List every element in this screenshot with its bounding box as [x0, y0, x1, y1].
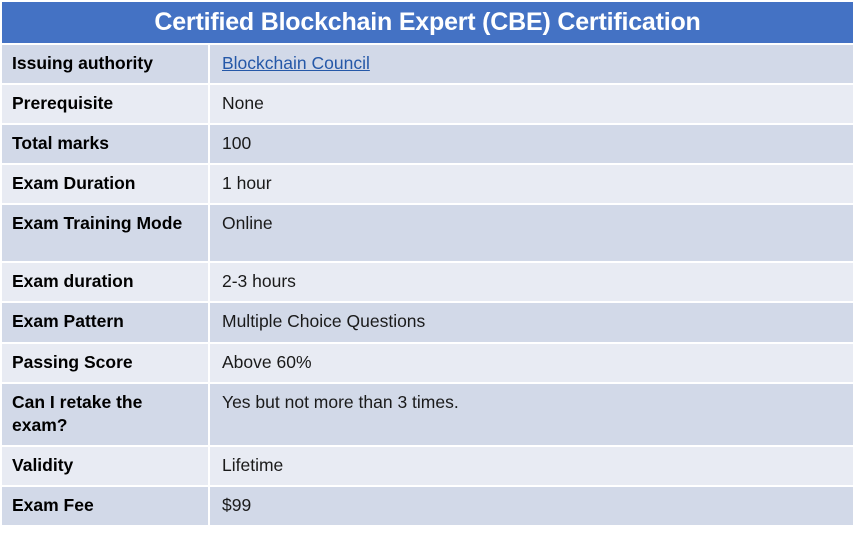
row-value: Multiple Choice Questions	[210, 303, 853, 341]
table-body: Issuing authorityBlockchain CouncilPrere…	[2, 43, 853, 525]
row-label: Exam Training Mode	[2, 205, 210, 261]
row-value: Lifetime	[210, 447, 853, 485]
table-row: Exam Duration1 hour	[2, 163, 853, 203]
row-value: None	[210, 85, 853, 123]
row-label: Issuing authority	[2, 45, 210, 83]
table-row: Issuing authorityBlockchain Council	[2, 43, 853, 83]
certification-table: Certified Blockchain Expert (CBE) Certif…	[2, 2, 853, 527]
row-label: Validity	[2, 447, 210, 485]
table-row: Exam Fee$99	[2, 485, 853, 525]
row-label: Prerequisite	[2, 85, 210, 123]
table-row: Total marks100	[2, 123, 853, 163]
table-row: Exam PatternMultiple Choice Questions	[2, 301, 853, 341]
table-bottom-edge	[2, 525, 853, 527]
row-label: Total marks	[2, 125, 210, 163]
table-row: Exam duration2-3 hours	[2, 261, 853, 301]
table-row: Exam Training ModeOnline	[2, 203, 853, 261]
table-row: Passing ScoreAbove 60%	[2, 342, 853, 382]
row-label: Can I retake the exam?	[2, 384, 210, 445]
table-row: PrerequisiteNone	[2, 83, 853, 123]
table-row: ValidityLifetime	[2, 445, 853, 485]
issuing-authority-link[interactable]: Blockchain Council	[222, 53, 370, 73]
table-row: Can I retake the exam?Yes but not more t…	[2, 382, 853, 445]
row-label: Passing Score	[2, 344, 210, 382]
row-value: 1 hour	[210, 165, 853, 203]
page-title: Certified Blockchain Expert (CBE) Certif…	[2, 2, 853, 43]
row-value: 100	[210, 125, 853, 163]
row-value: Online	[210, 205, 853, 261]
row-label: Exam Duration	[2, 165, 210, 203]
row-value: Yes but not more than 3 times.	[210, 384, 853, 445]
row-value: 2-3 hours	[210, 263, 853, 301]
row-value: Blockchain Council	[210, 45, 853, 83]
row-label: Exam Pattern	[2, 303, 210, 341]
row-label: Exam Fee	[2, 487, 210, 525]
row-value: Above 60%	[210, 344, 853, 382]
row-value: $99	[210, 487, 853, 525]
row-label: Exam duration	[2, 263, 210, 301]
